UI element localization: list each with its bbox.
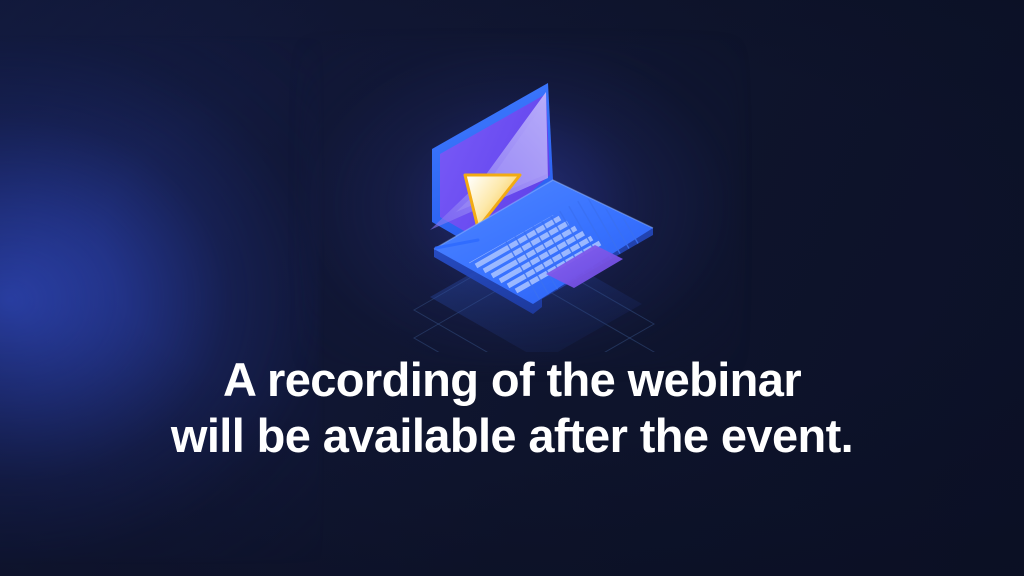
presentation-slide: A recording of the webinar will be avail… bbox=[0, 0, 1024, 576]
headline-line-2: will be available after the event. bbox=[0, 408, 1024, 464]
headline-line-1: A recording of the webinar bbox=[0, 352, 1024, 408]
isometric-laptop-illustration bbox=[370, 52, 670, 352]
page-title: A recording of the webinar will be avail… bbox=[0, 352, 1024, 464]
